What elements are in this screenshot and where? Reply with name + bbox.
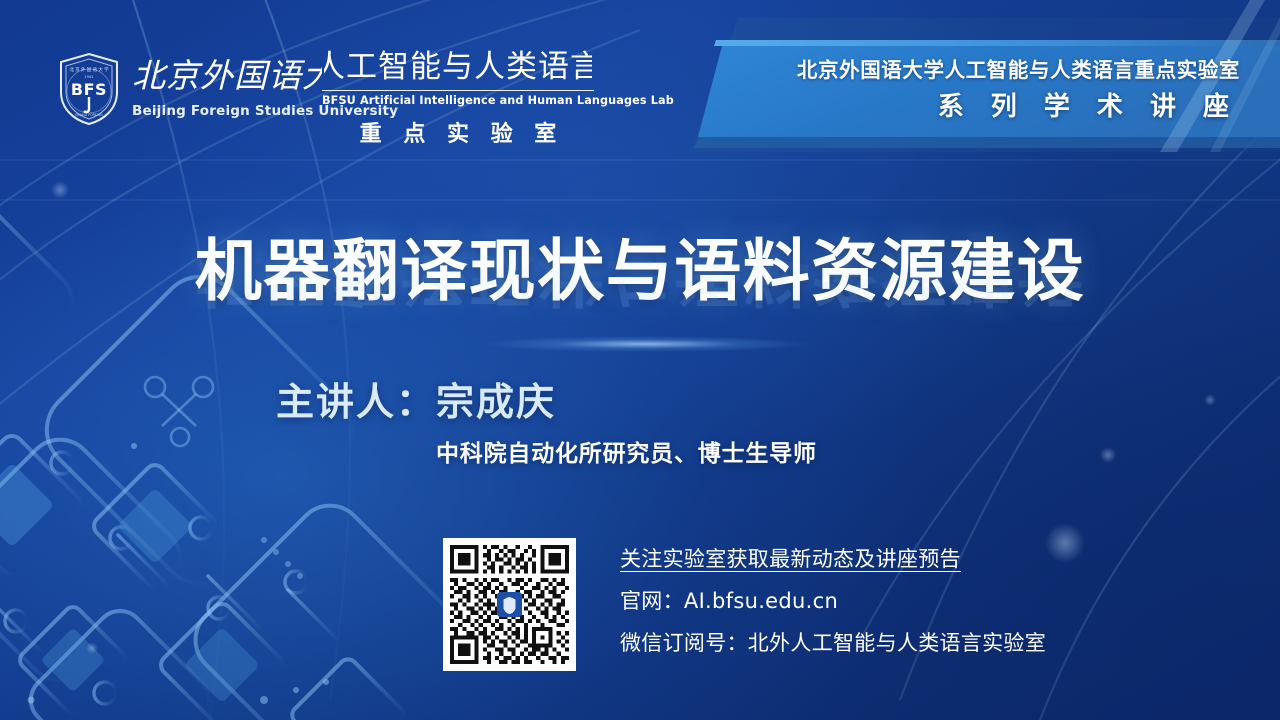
svg-text:北 京 外 国 语 大 学: 北 京 外 国 语 大 学 bbox=[69, 66, 109, 73]
wechat-text: 微信订阅号：北外人工智能与人类语言实验室 bbox=[620, 633, 1046, 654]
svg-text:BEIJING FOREIGN: BEIJING FOREIGN bbox=[75, 113, 103, 117]
svg-text:北京外国语大学: 北京外国语大学 bbox=[132, 56, 322, 95]
shield-crest-icon: 北 京 外 国 语 大 学 1941 BFS BEIJING FOREIGN bbox=[58, 52, 120, 126]
bfsu-chinese-name: 北京外国语大学 bbox=[132, 56, 322, 96]
lab-english-name: BFSU Artificial Intelligence and Human L… bbox=[322, 90, 594, 107]
title-reflection: 机器翻译现状与语料资源建设 bbox=[0, 238, 1280, 309]
qr-code-icon bbox=[450, 545, 569, 664]
lab-chinese-name: 人工智能与人类语言 bbox=[324, 46, 592, 84]
banner-lab-name: 北京外国语大学人工智能与人类语言重点实验室 bbox=[720, 60, 1240, 81]
title-block: 机器翻译现状与语料资源建设 机器翻译现状与语料资源建设 bbox=[0, 236, 1280, 380]
lab-subtitle: 重 点 实 验 室 bbox=[322, 116, 594, 148]
banner-text-group: 北京外国语大学人工智能与人类语言重点实验室 系 列 学 术 讲 座 bbox=[720, 60, 1240, 120]
website-text: 官网：AI.bfsu.edu.cn bbox=[620, 591, 1046, 612]
lecture-series-banner: 北京外国语大学人工智能与人类语言重点实验室 系 列 学 术 讲 座 bbox=[690, 0, 1280, 152]
svg-text:BFS: BFS bbox=[71, 80, 107, 99]
svg-text:人工智能与人类语言: 人工智能与人类语言 bbox=[324, 49, 592, 84]
presentation-slide: 北京外国语大学人工智能与人类语言重点实验室 系 列 学 术 讲 座 北 京 外 … bbox=[0, 0, 1280, 720]
ai-lab-logo: 人工智能与人类语言 BFSU Artificial Intelligence a… bbox=[322, 46, 594, 148]
logo-group: 北 京 外 国 语 大 学 1941 BFS BEIJING FOREIGN 北… bbox=[0, 0, 640, 150]
speaker-block: 主讲人：宗成庆 中科院自动化所研究员、博士生导师 bbox=[276, 383, 817, 468]
banner-series-title: 系 列 学 术 讲 座 bbox=[720, 94, 1240, 120]
speaker-affiliation: 中科院自动化所研究员、博士生导师 bbox=[436, 434, 817, 468]
follow-lab-text: 关注实验室获取最新动态及讲座预告 bbox=[620, 549, 1046, 570]
qr-code[interactable] bbox=[443, 538, 576, 671]
speaker-name: 主讲人：宗成庆 bbox=[276, 383, 817, 421]
svg-text:1941: 1941 bbox=[84, 75, 93, 79]
contact-info-block: 关注实验室获取最新动态及讲座预告 官网：AI.bfsu.edu.cn 微信订阅号… bbox=[620, 549, 1046, 654]
